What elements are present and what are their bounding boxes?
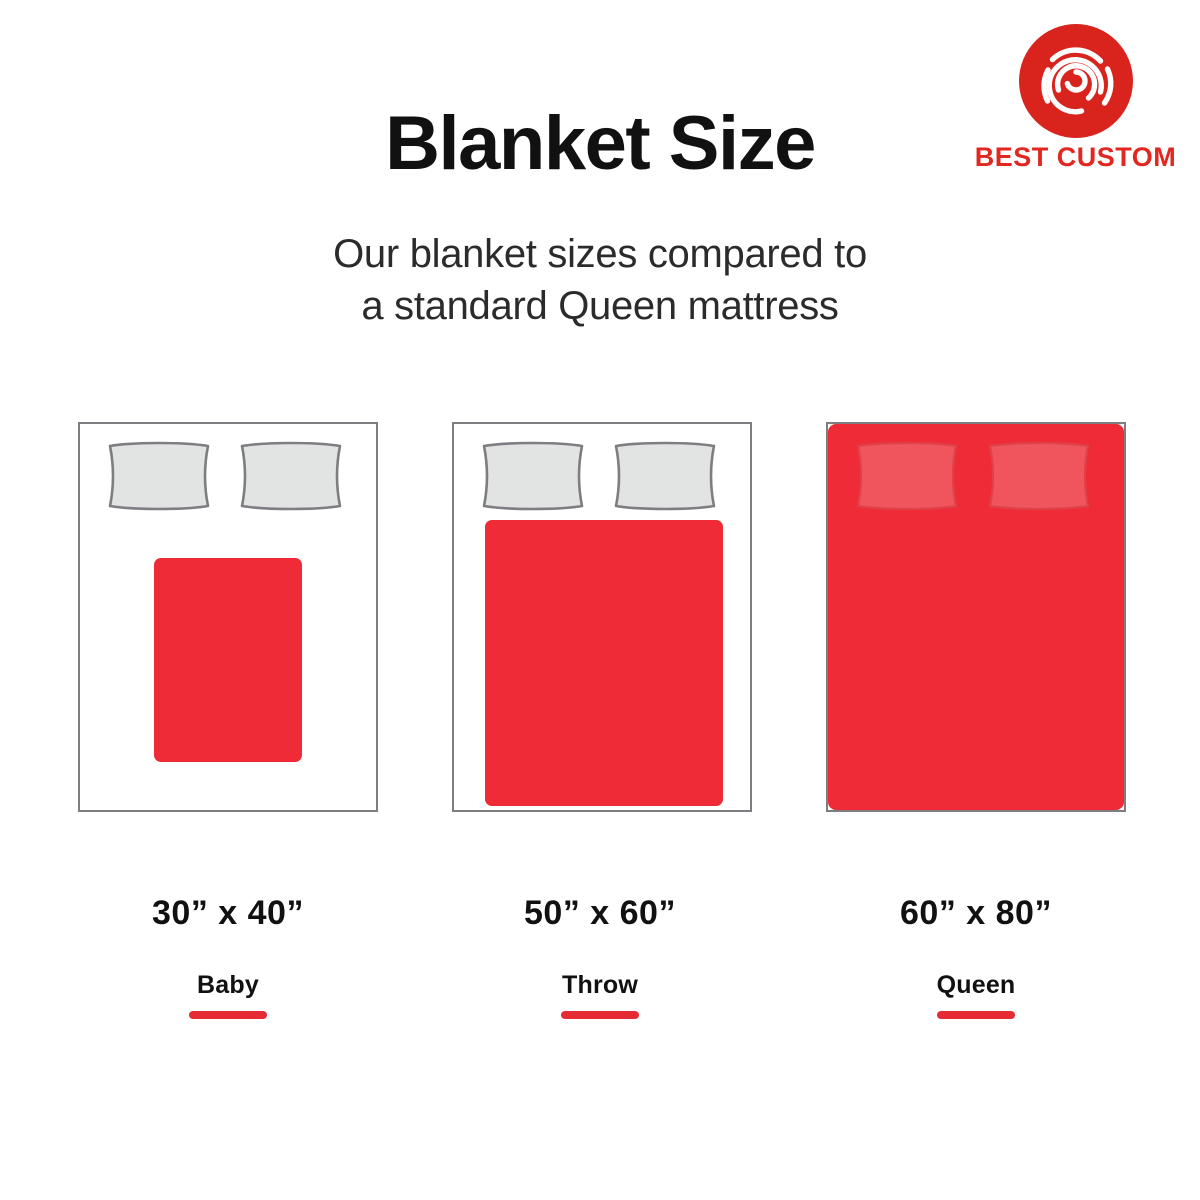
pillow-right-icon [984,440,1094,512]
bed-diagram-queen [826,422,1126,812]
pillow-right-icon [610,440,720,512]
accent-underline [561,1011,639,1019]
size-name-label: Baby [48,972,408,1000]
subtitle-line-1: Our blanket sizes compared to [0,228,1200,280]
page-subtitle: Our blanket sizes compared to a standard… [0,228,1200,332]
dimensions-label: 30” x 40” [48,895,408,932]
caption-baby: 30” x 40” Baby [48,895,408,1019]
accent-underline [937,1011,1015,1019]
caption-throw: 50” x 60” Throw [420,895,780,1019]
pillow-left-icon [478,440,588,512]
page-title: Blanket Size [0,104,1200,184]
pillow-left-icon [852,440,962,512]
pillow-left-icon [104,440,214,512]
caption-queen: 60” x 80” Queen [796,895,1156,1019]
subtitle-line-2: a standard Queen mattress [0,280,1200,332]
dimensions-label: 50” x 60” [420,895,780,932]
infographic-page: BEST CUSTOM Blanket Size Our blanket siz… [0,0,1200,1200]
caption-row: 30” x 40” Baby 50” x 60” Throw 60” x 80”… [0,895,1200,1055]
accent-underline [189,1011,267,1019]
size-name-label: Queen [796,972,1156,1000]
blanket-rect-throw [485,520,723,806]
blanket-rect-baby [154,558,302,762]
bed-comparison-row [0,422,1200,822]
pillow-right-icon [236,440,346,512]
dimensions-label: 60” x 80” [796,895,1156,932]
size-name-label: Throw [420,972,780,1000]
bed-diagram-throw [452,422,752,812]
bed-diagram-baby [78,422,378,812]
